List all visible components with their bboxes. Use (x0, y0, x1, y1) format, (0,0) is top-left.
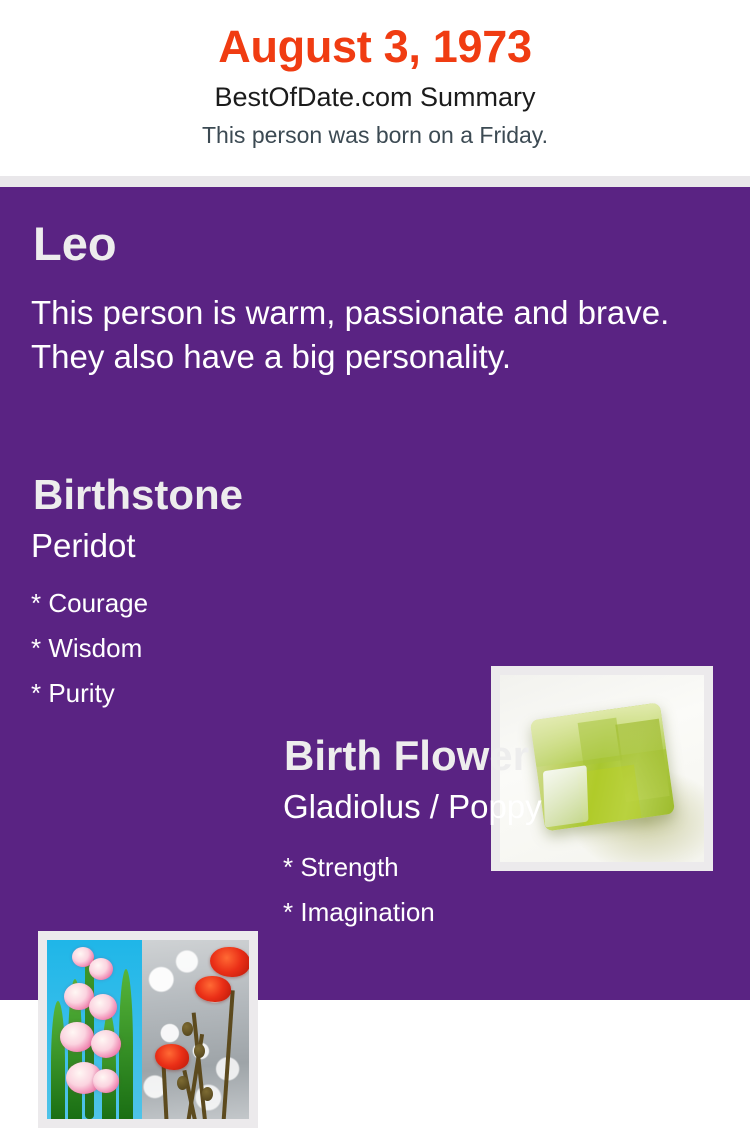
birthflower-name: Gladiolus / Poppy (283, 790, 542, 823)
list-item: * Imagination (283, 890, 435, 935)
leaf-shape (102, 1012, 116, 1119)
gladiolus-bloom (91, 1030, 121, 1058)
list-item: * Purity (31, 671, 148, 716)
birthstone-image (500, 675, 704, 862)
zodiac-description: This person is warm, passionate and brav… (31, 291, 691, 379)
gem-facet (576, 764, 640, 825)
peridot-photo (500, 675, 704, 862)
poppy-bloom (155, 1044, 189, 1070)
birth-weekday-note: This person was born on a Friday. (0, 111, 750, 147)
leaf-shape (51, 1001, 65, 1119)
birthstone-name: Peridot (31, 529, 136, 562)
site-name: BestOfDate.com Summary (0, 69, 750, 111)
gladiolus-bloom (93, 1069, 119, 1093)
header: August 3, 1973 BestOfDate.com Summary Th… (0, 0, 750, 176)
birthstone-heading: Birthstone (33, 474, 243, 516)
birthflower-image (47, 940, 249, 1119)
poppy-bud (182, 1022, 193, 1036)
poppy-panel (142, 940, 249, 1119)
list-item: * Strength (283, 845, 435, 890)
gladiolus-bloom (89, 958, 113, 980)
stem-shape (221, 990, 235, 1119)
birthflower-heading: Birth Flower (284, 735, 529, 777)
gladiolus-poppy-photo (47, 940, 249, 1119)
header-divider (0, 176, 750, 187)
gladiolus-panel (47, 940, 142, 1119)
list-item: * Wisdom (31, 626, 148, 671)
list-item: * Courage (31, 581, 148, 626)
content-area: Leo This person is warm, passionate and … (0, 187, 750, 1000)
page-title-date: August 3, 1973 (0, 0, 750, 69)
poppy-bloom (195, 976, 231, 1002)
poppy-bud (194, 1044, 205, 1058)
poppy-bloom (210, 947, 249, 977)
peridot-gem-icon (530, 702, 675, 831)
poppy-bud (202, 1087, 213, 1101)
leaf-shape (119, 969, 133, 1119)
gladiolus-bloom (89, 994, 117, 1020)
birthflower-image-frame (38, 931, 258, 1128)
birthstone-traits-list: * Courage * Wisdom * Purity (31, 581, 148, 716)
zodiac-sign-title: Leo (33, 220, 117, 267)
birthflower-traits-list: * Strength * Imagination (283, 845, 435, 935)
summary-card: August 3, 1973 BestOfDate.com Summary Th… (0, 0, 750, 1000)
